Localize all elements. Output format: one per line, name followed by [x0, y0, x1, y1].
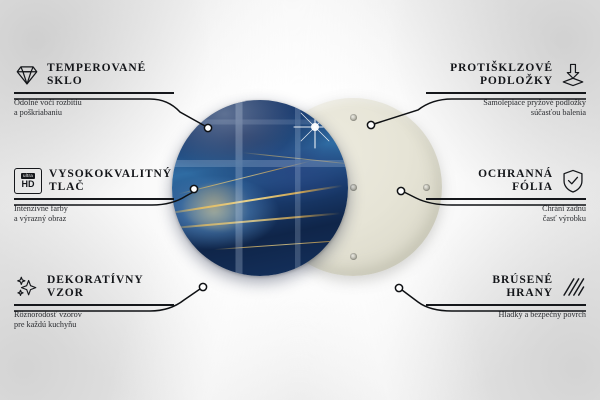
feature-description: Samolepiace pryžové podložky súčasťou ba…	[426, 98, 586, 119]
feature-header: OCHRANNÁ FÓLIA	[426, 168, 586, 194]
feature-high-quality-print: ultra HD VYSOKOKVALITNÝ TLAČ Intenzívne …	[14, 168, 174, 224]
diagonal-lines-icon	[560, 274, 586, 300]
divider	[426, 198, 586, 200]
feature-header: BRÚSENÉ HRANY	[426, 274, 586, 300]
feature-anti-slip-pads: PROTIŠKLZOVÉ PODLOŽKY Samolepiace pryžov…	[426, 62, 586, 118]
callout-endpoint	[199, 283, 206, 290]
feature-description: Rôznorodosť vzorov pre každú kuchyňu	[14, 310, 174, 331]
feature-polished-edges: BRÚSENÉ HRANY Hladký a bezpečný povrch	[426, 274, 586, 320]
divider	[426, 92, 586, 94]
feature-description: Odolné voči rozbitiu a poškriabaniu	[14, 98, 174, 119]
divider	[426, 304, 586, 306]
feature-header: TEMPEROVANÉ SKLO	[14, 62, 174, 88]
shield-check-icon	[560, 168, 586, 194]
feature-header: ultra HD VYSOKOKVALITNÝ TLAČ	[14, 168, 174, 194]
press-down-pads-icon	[560, 62, 586, 88]
feature-title: VYSOKOKVALITNÝ TLAČ	[49, 168, 172, 193]
feature-decorative-pattern: DEKORATÍVNY VZOR Rôznorodosť vzorov pre …	[14, 274, 174, 330]
feature-title: PROTIŠKLZOVÉ PODLOŽKY	[450, 62, 553, 87]
feature-description: Hladký a bezpečný povrch	[426, 310, 586, 320]
callout-endpoint	[397, 187, 404, 194]
sparkles-icon	[14, 274, 40, 300]
divider	[14, 92, 174, 94]
callout-endpoint	[395, 284, 402, 291]
feature-header: PROTIŠKLZOVÉ PODLOŽKY	[426, 62, 586, 88]
callout-endpoint	[190, 185, 197, 192]
infographic-stage: TEMPEROVANÉ SKLO Odolné voči rozbitiu a …	[0, 0, 600, 400]
feature-tempered-glass: TEMPEROVANÉ SKLO Odolné voči rozbitiu a …	[14, 62, 174, 118]
ultra-hd-icon: ultra HD	[14, 168, 42, 194]
callout-endpoint	[367, 121, 374, 128]
callout-endpoint	[204, 124, 211, 131]
divider	[14, 304, 174, 306]
feature-description: Chráni zadnú časť výrobku	[426, 204, 586, 225]
feature-description: Intenzívne farby a výrazný obraz	[14, 204, 174, 225]
diamond-icon	[14, 62, 40, 88]
feature-header: DEKORATÍVNY VZOR	[14, 274, 174, 300]
feature-title: OCHRANNÁ FÓLIA	[478, 168, 553, 193]
feature-protective-film: OCHRANNÁ FÓLIA Chráni zadnú časť výrobku	[426, 168, 586, 224]
feature-title: BRÚSENÉ HRANY	[492, 274, 553, 299]
divider	[14, 198, 174, 200]
feature-title: DEKORATÍVNY VZOR	[47, 274, 144, 299]
feature-title: TEMPEROVANÉ SKLO	[47, 62, 146, 87]
